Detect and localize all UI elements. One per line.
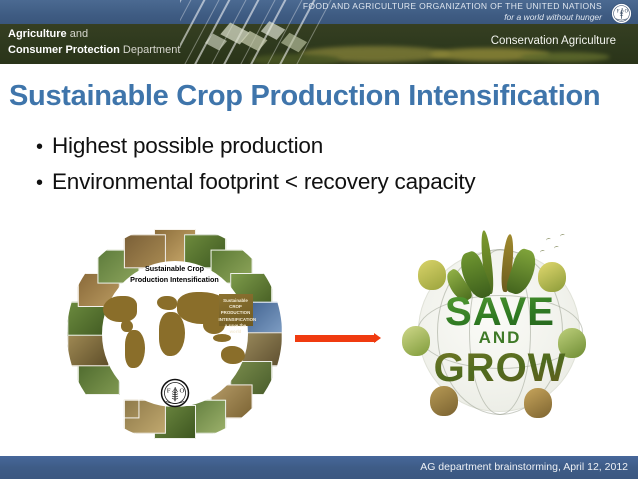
department-line-1: Agriculture and: [8, 27, 180, 43]
svg-text:F: F: [166, 387, 170, 394]
bullet-text: Environmental footprint < recovery capac…: [52, 169, 475, 194]
slide-header: FOOD AND AGRICULTURE ORGANIZATION OF THE…: [0, 0, 638, 64]
list-item: • Highest possible production: [36, 133, 616, 158]
slide-root: FOOD AND AGRICULTURE ORGANIZATION OF THE…: [0, 0, 638, 479]
bird-icon: [560, 233, 566, 238]
collage-caption-line1: Sustainable Crop: [67, 264, 282, 275]
graphics-area: Sustainable Crop Production Intensificat…: [0, 222, 638, 454]
bullet-marker-icon: •: [36, 173, 52, 193]
collage-caption: Sustainable Crop Production Intensificat…: [67, 264, 282, 286]
book-cover-line4: a save the world: [219, 323, 253, 336]
svg-text:O: O: [625, 9, 629, 14]
footer-text: AG department brainstorming, April 12, 2…: [420, 461, 628, 473]
fao-emblem-icon: F A O: [160, 378, 190, 408]
department-label: Agriculture and Consumer Protection Depa…: [8, 27, 180, 59]
list-item: • Environmental footprint < recovery cap…: [36, 169, 616, 194]
farmer-face-icon: [524, 388, 552, 418]
transition-arrow: [295, 335, 376, 342]
scpi-book-cover: Sustainable CROP PRODUCTION INTENSIFICAT…: [219, 294, 253, 326]
farmer-face-icon: [418, 260, 446, 290]
fao-org-tagline: for a world without hunger: [303, 13, 602, 23]
and-word: AND: [400, 328, 600, 348]
department-line-2: Consumer Protection Department: [8, 43, 180, 59]
bullet-text: Highest possible production: [52, 133, 323, 158]
department-line2-bold: Consumer Protection: [8, 44, 120, 56]
farmer-face-icon: [538, 262, 566, 292]
bullet-marker-icon: •: [36, 137, 52, 157]
header-landscape-blob: [520, 52, 610, 62]
department-line1-light: and: [67, 28, 88, 40]
svg-text:O: O: [179, 387, 184, 394]
bird-icon: [546, 237, 552, 242]
save-and-grow-image: SAVE AND GROW: [400, 222, 600, 427]
page-title: Sustainable Crop Production Intensificat…: [9, 80, 629, 113]
scpi-collage-image: Sustainable Crop Production Intensificat…: [67, 226, 282, 441]
bullet-list: • Highest possible production • Environm…: [36, 133, 616, 205]
slide-footer: AG department brainstorming, April 12, 2…: [0, 456, 638, 479]
collage-caption-line2: Production Intensification: [67, 275, 282, 286]
bird-icon: [540, 249, 546, 254]
svg-text:F: F: [617, 9, 620, 14]
bird-icon: [554, 245, 560, 250]
fao-logo-icon: F A O: [611, 3, 632, 24]
book-cover-line1: Sustainable: [219, 298, 253, 304]
department-line1-bold: Agriculture: [8, 28, 67, 40]
grow-word: GROW: [400, 346, 600, 391]
section-label: Conservation Agriculture: [491, 35, 616, 47]
fao-org-line1: FOOD AND AGRICULTURE ORGANIZATION OF THE…: [303, 2, 602, 12]
book-cover-line2: CROP PRODUCTION: [219, 304, 253, 317]
header-landscape-blob: [250, 54, 340, 64]
fao-organization-text: FOOD AND AGRICULTURE ORGANIZATION OF THE…: [303, 2, 602, 23]
department-line2-light: Department: [120, 44, 181, 56]
